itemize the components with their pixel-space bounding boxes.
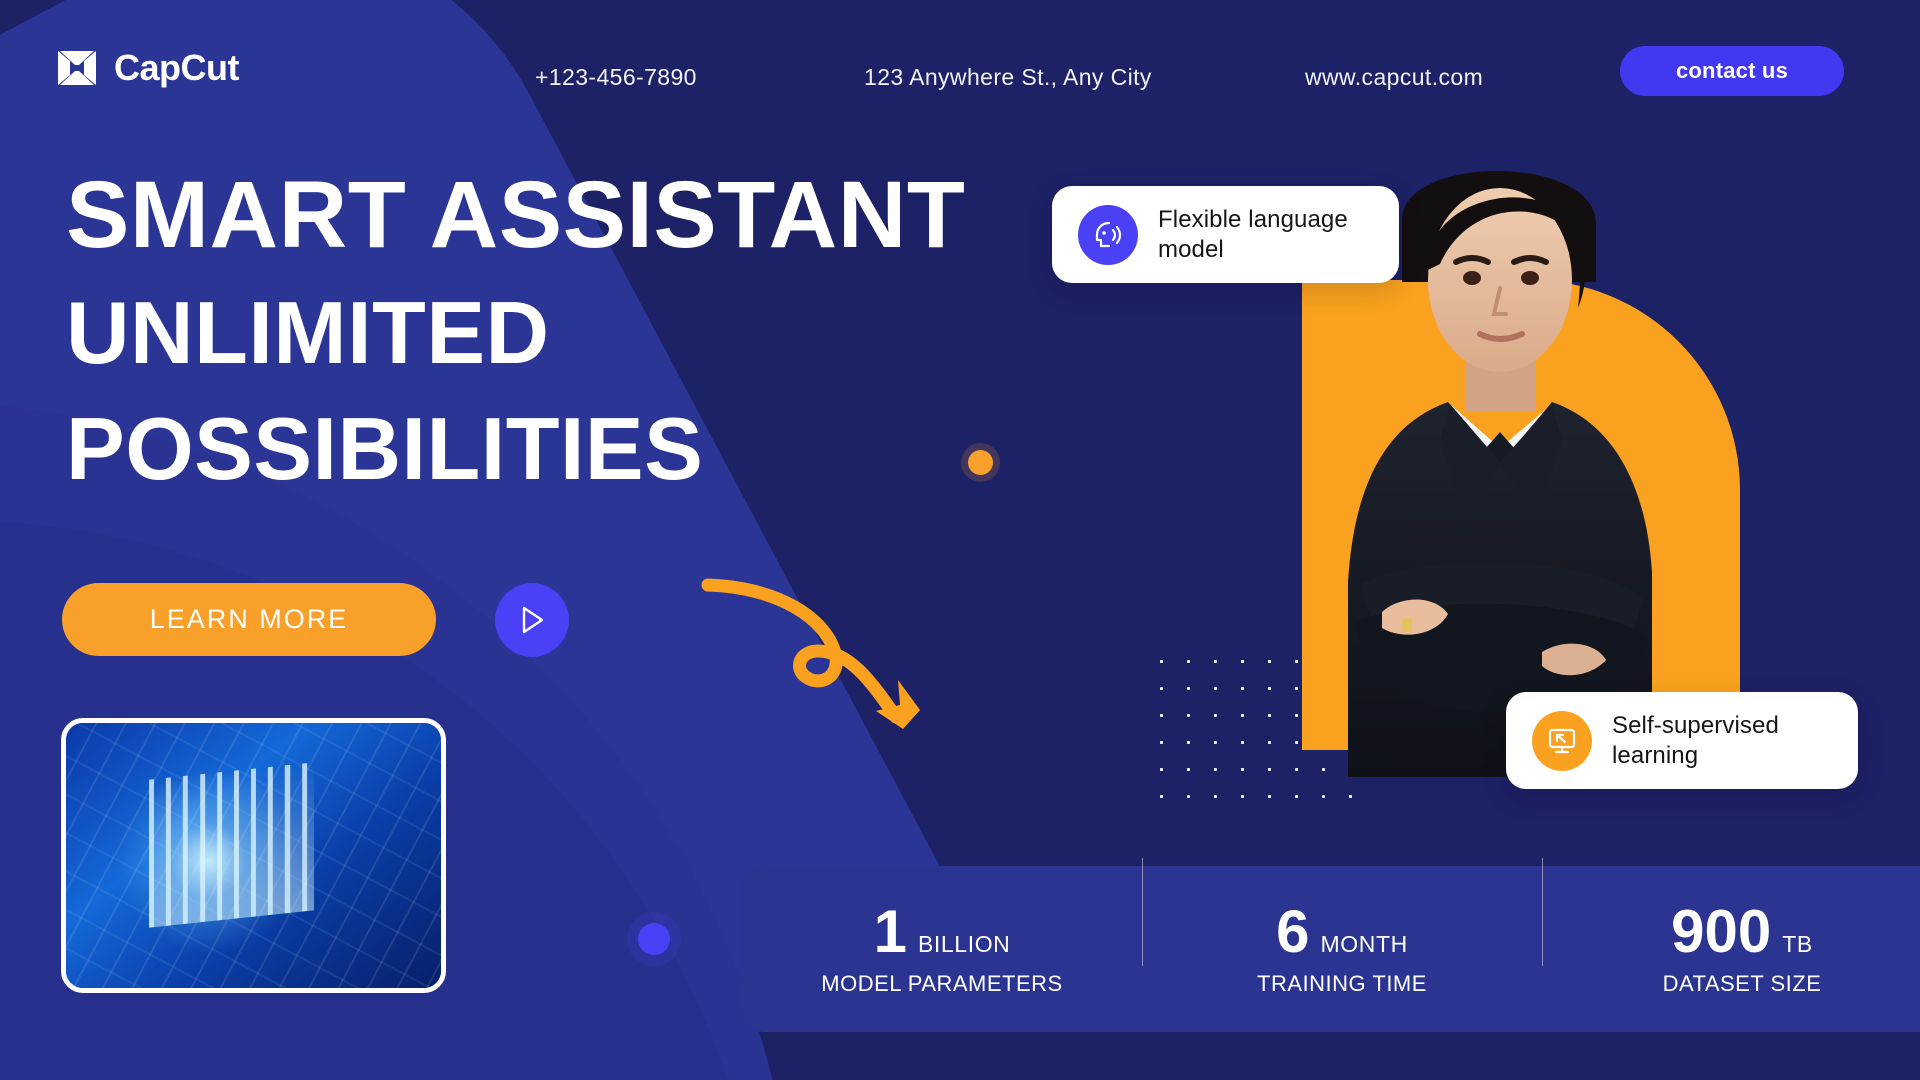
site-header: CapCut +123-456-7890 123 Anywhere St., A…: [0, 0, 1920, 130]
stat-unit: TB: [1782, 931, 1813, 958]
header-phone[interactable]: +123-456-7890: [535, 64, 697, 91]
brand-name: CapCut: [114, 47, 239, 89]
contact-us-button[interactable]: contact us: [1620, 46, 1844, 96]
brand-logo[interactable]: CapCut: [54, 47, 239, 89]
stat-value: 900: [1671, 902, 1771, 962]
feature-card-self-supervised[interactable]: Self-supervised learning: [1506, 692, 1858, 789]
capcut-logo-icon: [54, 48, 100, 88]
stat-unit: MONTH: [1321, 931, 1408, 958]
stat-item: 900 TB DATASET SIZE: [1542, 902, 1920, 997]
curved-arrow-icon: [700, 565, 960, 765]
technology-thumbnail[interactable]: [61, 718, 446, 993]
orange-accent-dot: [968, 450, 993, 475]
stat-value-row: 6 MONTH: [1142, 902, 1542, 962]
feature-card-label: Self-supervised learning: [1612, 711, 1832, 770]
stat-value: 6: [1276, 902, 1309, 962]
stats-bar: 1 BILLION MODEL PARAMETERS 6 MONTH TRAIN…: [742, 866, 1920, 1032]
play-icon: [517, 604, 547, 636]
stat-label: DATASET SIZE: [1542, 971, 1920, 997]
stat-value: 1: [874, 902, 907, 962]
learn-more-button[interactable]: LEARN MORE: [62, 583, 436, 656]
headline-line-2: UNLIMITED: [66, 289, 965, 377]
stat-item: 6 MONTH TRAINING TIME: [1142, 902, 1542, 997]
play-video-button[interactable]: [495, 583, 569, 657]
hero-headline: SMART ASSISTANT UNLIMITED POSSIBILITIES: [66, 168, 965, 493]
header-address: 123 Anywhere St., Any City: [864, 64, 1152, 91]
feature-card-label: Flexible language model: [1158, 205, 1373, 264]
stat-unit: BILLION: [918, 931, 1010, 958]
feature-card-language-model[interactable]: Flexible language model: [1052, 186, 1399, 283]
hero-banner: CapCut +123-456-7890 123 Anywhere St., A…: [0, 0, 1920, 1080]
stat-value-row: 900 TB: [1542, 902, 1920, 962]
monitor-arrow-icon: [1532, 711, 1592, 771]
speaking-face-icon: [1078, 205, 1138, 265]
stat-item: 1 BILLION MODEL PARAMETERS: [742, 902, 1142, 997]
blue-accent-dot: [638, 923, 670, 955]
stat-label: TRAINING TIME: [1142, 971, 1542, 997]
headline-line-3: POSSIBILITIES: [66, 405, 965, 493]
headline-line-1: SMART ASSISTANT: [66, 168, 965, 263]
header-website[interactable]: www.capcut.com: [1305, 64, 1483, 91]
circuit-board-city-image: [66, 723, 441, 988]
stat-value-row: 1 BILLION: [742, 902, 1142, 962]
stat-label: MODEL PARAMETERS: [742, 971, 1142, 997]
